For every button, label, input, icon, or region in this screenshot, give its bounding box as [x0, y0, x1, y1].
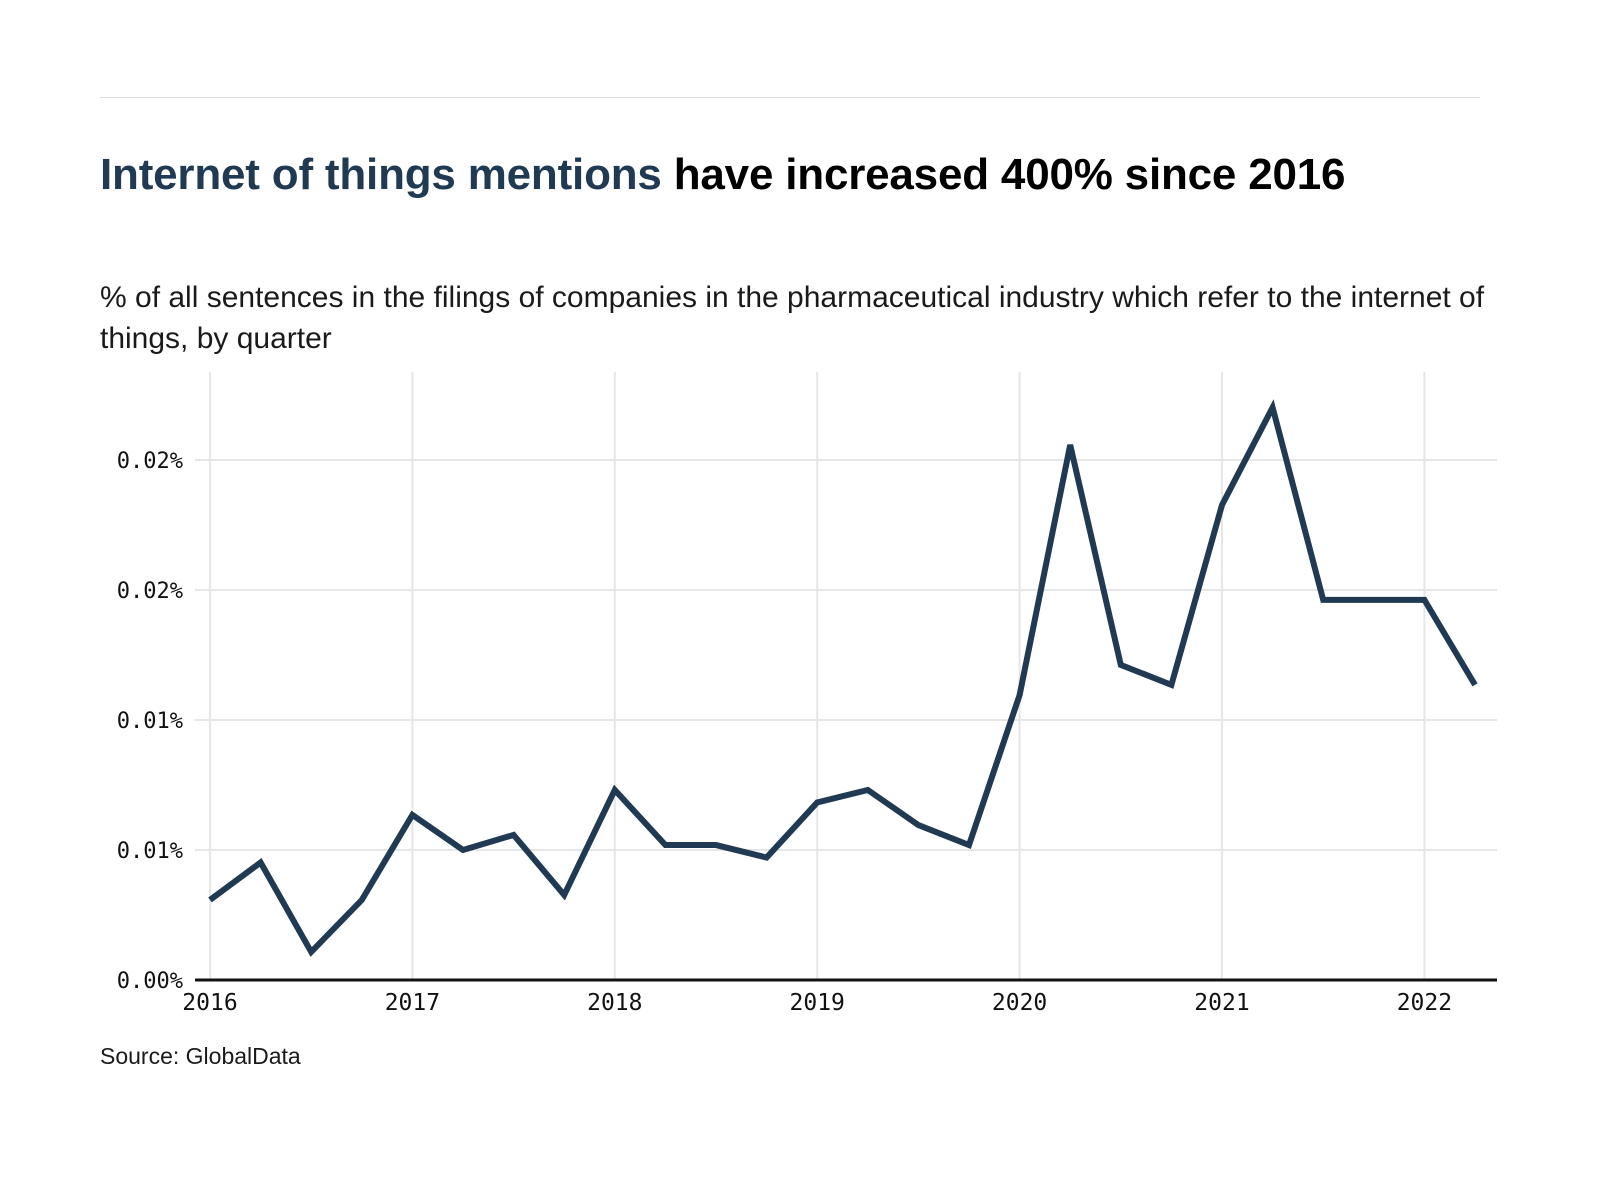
- x-axis-tick-label: 2020: [992, 990, 1047, 1016]
- x-axis-tick-label: 2016: [182, 990, 237, 1016]
- x-axis-tick-labels: 2016201720182019202020212022: [182, 990, 1452, 1016]
- y-axis-tick-labels: 0.00%0.01%0.01%0.02%0.02%: [117, 449, 183, 994]
- y-axis-tick-label: 0.00%: [117, 969, 183, 994]
- y-axis-tick-label: 0.01%: [117, 709, 183, 734]
- y-axis-tick-label: 0.02%: [117, 579, 183, 604]
- x-axis-tick-label: 2017: [385, 990, 440, 1016]
- y-axis-tick-label: 0.02%: [117, 449, 183, 474]
- x-axis-tick-label: 2018: [587, 990, 642, 1016]
- x-axis-tick-label: 2021: [1194, 990, 1249, 1016]
- x-axis-tick-label: 2019: [790, 990, 845, 1016]
- y-axis-tick-label: 0.01%: [117, 839, 183, 864]
- source-note: Source: GlobalData: [100, 1043, 301, 1070]
- data-series-line: [210, 407, 1475, 951]
- chart-page: Internet of things mentions have increas…: [0, 0, 1600, 1200]
- x-axis-tick-label: 2022: [1397, 990, 1452, 1016]
- chart-svg: 0.00%0.01%0.01%0.02%0.02% 20162017201820…: [0, 0, 1600, 1200]
- line-chart: 0.00%0.01%0.01%0.02%0.02% 20162017201820…: [0, 0, 1600, 1200]
